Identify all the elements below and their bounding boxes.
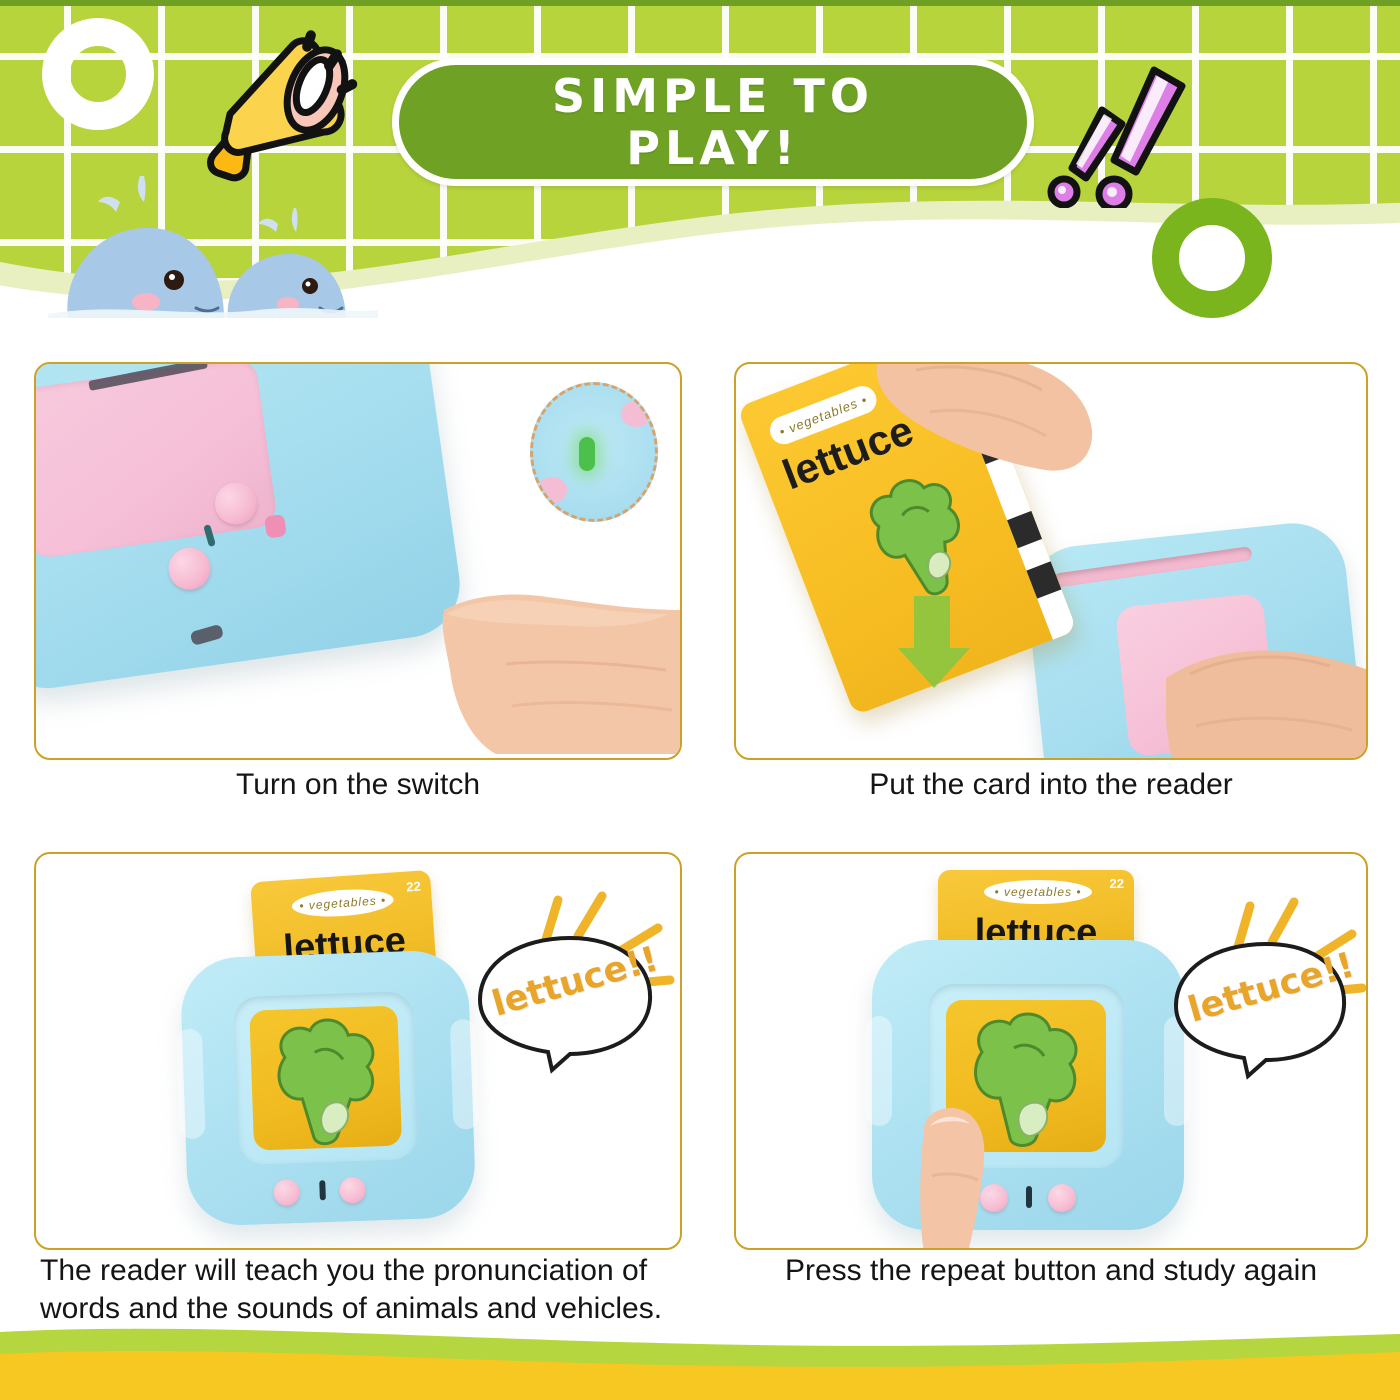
device-screen-frame bbox=[233, 991, 419, 1165]
inset-button-bottom bbox=[537, 477, 567, 503]
steps-grid: Turn on the switch • vegetables • lettuc… bbox=[0, 318, 1400, 1318]
card-category-badge: • vegetables • bbox=[984, 880, 1092, 904]
card-number: 22 bbox=[1110, 876, 1124, 891]
inset-button-top bbox=[621, 401, 651, 427]
whale-group-decoration bbox=[48, 168, 378, 318]
footer-wave-decoration bbox=[0, 1318, 1400, 1400]
card-category-badge: • vegetables • bbox=[291, 886, 395, 919]
reader-device-front bbox=[179, 949, 476, 1227]
device-screen bbox=[249, 1006, 402, 1151]
step-2-cell: • vegetables • lettuce bbox=[734, 362, 1368, 760]
step-1-cell: Turn on the switch bbox=[34, 362, 682, 760]
step-1-photo bbox=[34, 362, 682, 760]
step-3-caption-line-1: The reader will teach you the pronunciat… bbox=[40, 1252, 716, 1290]
card-slot bbox=[1053, 546, 1253, 588]
power-switch-green-icon bbox=[579, 437, 595, 471]
double-exclamation-icon bbox=[1042, 48, 1212, 208]
ring-green-decoration bbox=[1152, 198, 1272, 318]
page-title-line-2: PLAY! bbox=[626, 122, 800, 174]
speech-bubble-group: lettuce!! bbox=[1166, 888, 1368, 1088]
step-4-caption: Press the repeat button and study again bbox=[734, 1252, 1368, 1290]
megaphone-icon bbox=[196, 28, 376, 188]
hand-holding-device bbox=[1166, 604, 1368, 760]
step-3-caption: The reader will teach you the pronunciat… bbox=[34, 1252, 716, 1328]
device-button-repeat[interactable] bbox=[1048, 1184, 1076, 1212]
step-2-photo: • vegetables • lettuce bbox=[734, 362, 1368, 760]
hand-holding-card bbox=[856, 362, 1106, 534]
device-grip-left bbox=[176, 1028, 206, 1139]
speech-bubble-group: lettuce!! bbox=[466, 884, 682, 1084]
step-1-caption: Turn on the switch bbox=[34, 766, 682, 804]
lettuce-illustration bbox=[249, 1006, 402, 1151]
card-category-label: • vegetables • bbox=[299, 893, 387, 913]
step-4-cell: • vegetables • 22 lettuce bbox=[734, 852, 1368, 1250]
device-grip-left bbox=[866, 1016, 892, 1126]
header-top-stripe bbox=[0, 0, 1400, 6]
card-category-label: • vegetables • bbox=[994, 885, 1081, 899]
power-switch-closeup-inset bbox=[530, 382, 658, 522]
device-button-volume bbox=[273, 1179, 300, 1206]
card-number: 22 bbox=[406, 879, 421, 895]
page-header: SIMPLE TO PLAY! bbox=[0, 0, 1400, 318]
page-title-line-1: SIMPLE TO bbox=[552, 70, 874, 122]
power-switch bbox=[264, 514, 287, 539]
page-title-banner: SIMPLE TO PLAY! bbox=[392, 58, 1034, 186]
step-2-caption: Put the card into the reader bbox=[734, 766, 1368, 804]
pointing-finger bbox=[436, 544, 682, 754]
page-footer bbox=[0, 1318, 1400, 1400]
reader-device-tilted bbox=[34, 362, 467, 695]
ring-white-decoration bbox=[42, 18, 154, 130]
step-4-photo: • vegetables • 22 lettuce bbox=[734, 852, 1368, 1250]
step-3-photo: • vegetables • 22 lettuce bbox=[34, 852, 682, 1250]
device-screen bbox=[34, 362, 278, 560]
step-3-cell: • vegetables • 22 lettuce bbox=[34, 852, 682, 1250]
insert-arrow-icon bbox=[894, 596, 980, 688]
usb-charging-port bbox=[190, 624, 225, 646]
device-led-indicator bbox=[319, 1180, 326, 1200]
pointing-finger bbox=[906, 1102, 1036, 1250]
device-button-repeat bbox=[166, 545, 213, 592]
device-button-repeat bbox=[339, 1177, 366, 1204]
